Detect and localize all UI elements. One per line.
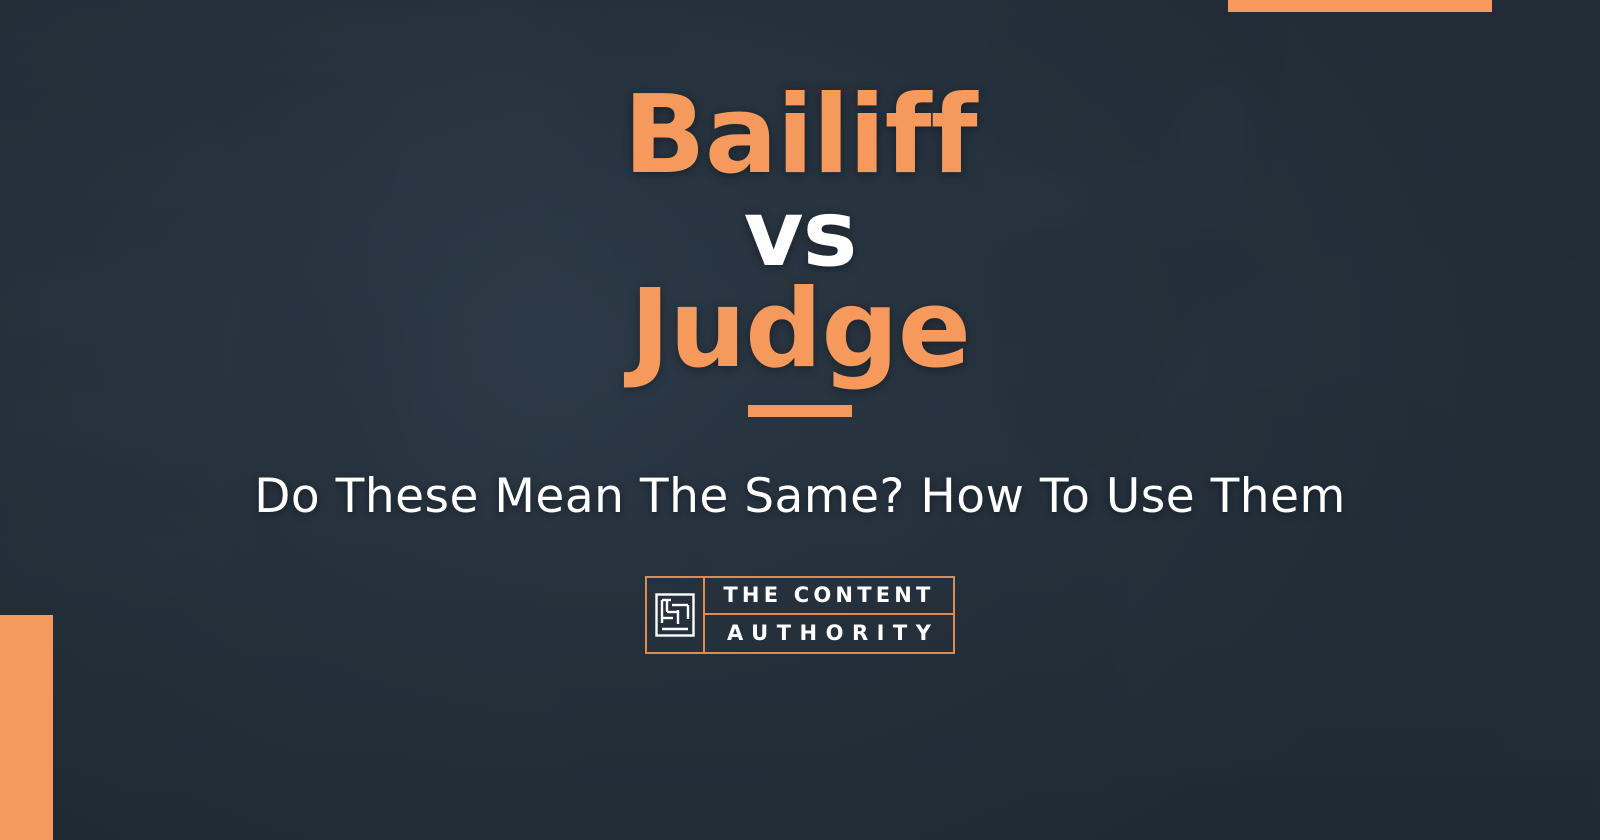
- brand-logo-line-2: AUTHORITY: [705, 615, 954, 652]
- page-title: Bailiff vs Judge: [623, 84, 976, 417]
- banner-content: Bailiff vs Judge Do These Mean The Same?…: [0, 0, 1600, 840]
- maze-logo-icon: [647, 578, 705, 652]
- hero-banner: Bailiff vs Judge Do These Mean The Same?…: [0, 0, 1600, 840]
- title-line-first-term: Bailiff: [623, 84, 976, 189]
- title-line-second-term: Judge: [623, 278, 976, 383]
- brand-logo-line-1: THE CONTENT: [705, 578, 954, 615]
- brand-logo-text: THE CONTENT AUTHORITY: [705, 578, 954, 652]
- title-underline-rule: [748, 405, 852, 417]
- banner-subtitle: Do These Mean The Same? How To Use Them: [254, 469, 1346, 524]
- brand-logo[interactable]: THE CONTENT AUTHORITY: [645, 576, 956, 654]
- title-line-versus: vs: [623, 189, 976, 278]
